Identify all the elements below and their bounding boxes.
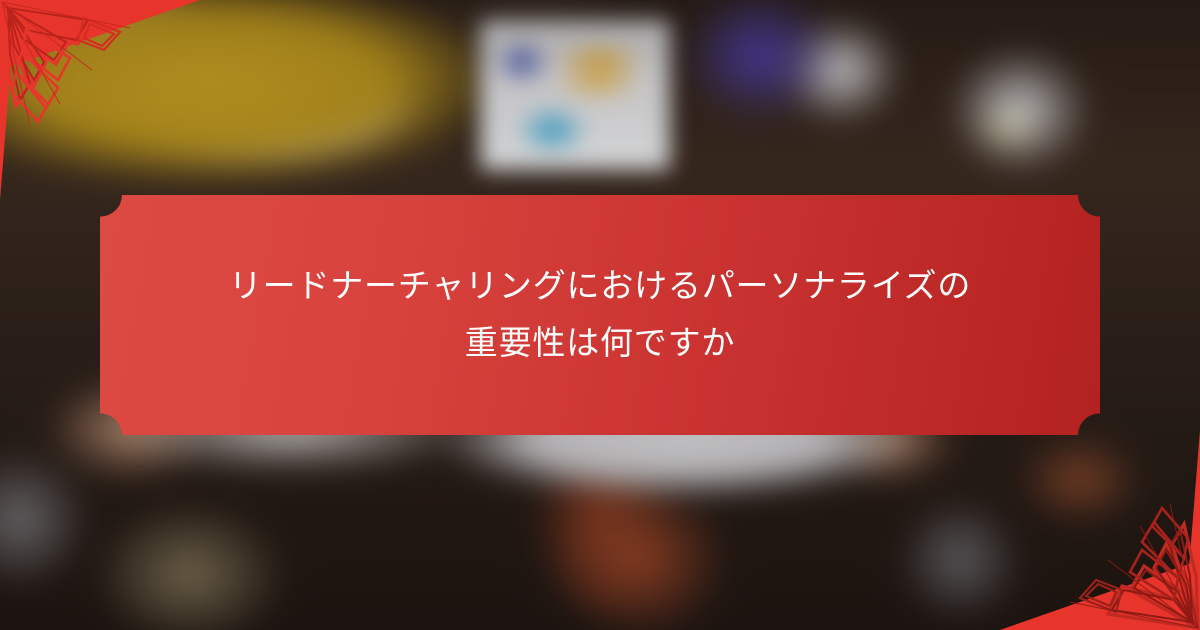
- banner-text-block: リードナーチャリングにおけるパーソナライズの 重要性は何ですか: [100, 195, 1100, 435]
- banner-title-line-2: 重要性は何ですか: [465, 315, 735, 372]
- title-banner: リードナーチャリングにおけるパーソナライズの 重要性は何ですか: [100, 195, 1100, 435]
- banner-title-line-1: リードナーチャリングにおけるパーソナライズの: [229, 258, 971, 315]
- share-card-canvas: リードナーチャリングにおけるパーソナライズの 重要性は何ですか: [0, 0, 1200, 630]
